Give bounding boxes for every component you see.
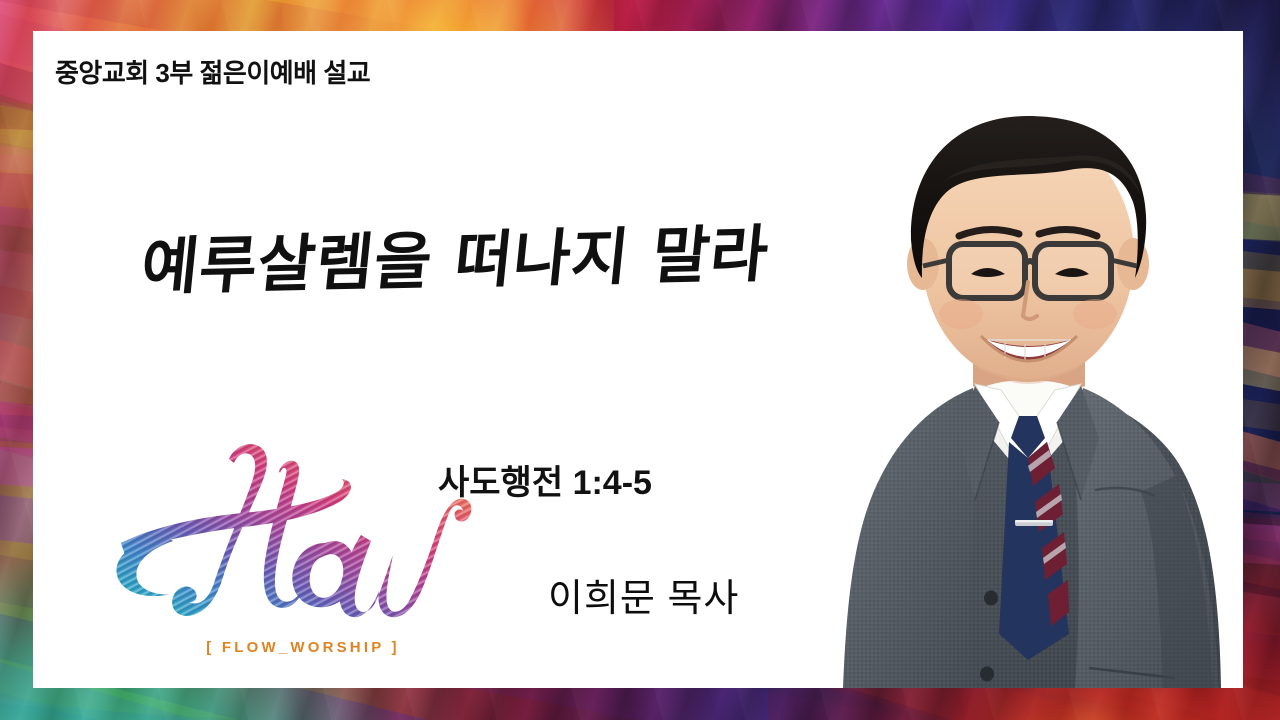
sermon-title: 예루살렘을 떠나지 말라 (138, 202, 849, 307)
flow-worship-caption: [ FLOW_WORSHIP ] (206, 639, 399, 656)
speaker-portrait-photo (823, 86, 1243, 688)
header-title: 중앙교회 3부 젊은이예배 설교 (55, 53, 370, 90)
flow-worship-logo: [ FLOW_WORSHIP ] (103, 431, 503, 671)
portrait-illustration (823, 86, 1243, 688)
speaker-name: 이희문 목사 (548, 567, 739, 622)
white-content-card: 중앙교회 3부 젊은이예배 설교 예루살렘을 떠나지 말라 사도행전 1:4-5… (33, 31, 1243, 688)
flow-wordmark-icon (103, 431, 503, 631)
sermon-title-slide: 중앙교회 3부 젊은이예배 설교 예루살렘을 떠나지 말라 사도행전 1:4-5… (0, 0, 1280, 720)
